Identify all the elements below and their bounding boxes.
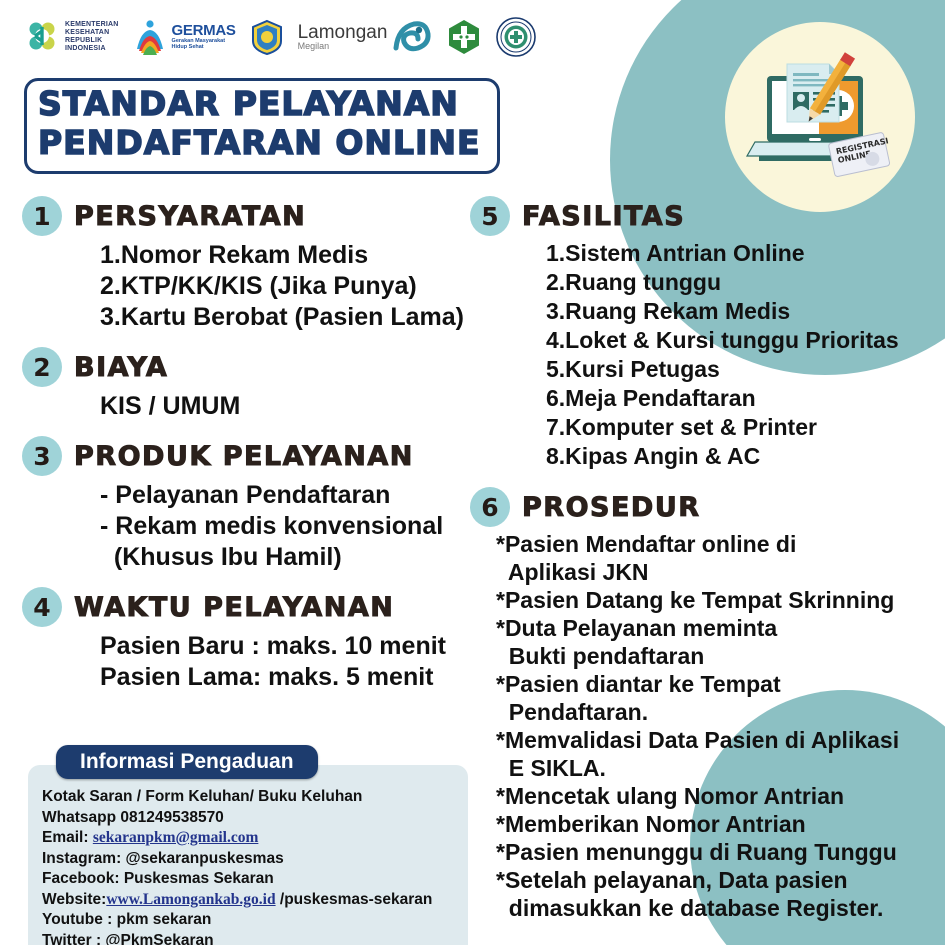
kemenkes-logo: KEMENTERIAN KESEHATAN REPUBLIK INDONESIA: [24, 19, 119, 55]
section-title: PROSEDUR: [522, 492, 701, 523]
info-line-whatsapp: Whatsapp 081249538570: [42, 808, 454, 829]
list-item: Pasien Baru : maks. 10 menit: [100, 631, 472, 662]
left-column: 1 PERSYARATAN 1.Nomor Rekam Medis 2.KTP/…: [22, 196, 472, 695]
list-item: *Mencetak ulang Nomor Antrian: [496, 782, 940, 810]
section-body-fasilitas: 1.Sistem Antrian Online 2.Ruang tunggu 3…: [470, 239, 940, 471]
website-label: Website:: [42, 891, 106, 908]
section-number-badge: 2: [22, 347, 62, 387]
germas-logo: GERMAS Gerakan Masyarakat Hidup Sehat: [133, 19, 236, 55]
germas-figure-icon: [133, 19, 167, 55]
list-item: 1.Sistem Antrian Online: [546, 239, 940, 268]
list-item: E SIKLA.: [496, 754, 940, 782]
kemenkes-logo-text: KEMENTERIAN KESEHATAN REPUBLIK INDONESIA: [65, 21, 119, 53]
info-line-suggestion-box: Kotak Saran / Form Keluhan/ Buku Keluhan: [42, 787, 454, 808]
germas-logo-text: GERMAS Gerakan Masyarakat Hidup Sehat: [172, 24, 236, 50]
section-title: BIAYA: [74, 352, 168, 383]
list-item: *Pasien Mendaftar online di: [496, 530, 940, 558]
info-line-website: Website:www.Lamongankab.go.id /puskesmas…: [42, 890, 454, 911]
list-item: 7.Komputer set & Printer: [546, 413, 940, 442]
list-item: 1.Nomor Rekam Medis: [100, 240, 472, 271]
info-line-instagram: Instagram: @sekaranpuskesmas: [42, 849, 454, 870]
website-path: /puskesmas-sekaran: [276, 891, 433, 908]
list-item: 8.Kipas Angin & AC: [546, 442, 940, 471]
section-title: FASILITAS: [522, 201, 685, 232]
list-item: Bukti pendaftaran: [496, 642, 940, 670]
lamongan-seal-logo: [250, 19, 284, 55]
lamongan-megilan-logo: Lamongan Megilan: [298, 18, 433, 56]
online-registration-illustration: REGISTRASI ONLINE: [739, 42, 899, 192]
section-waktu: 4 WAKTU PELAYANAN Pasien Baru : maks. 10…: [22, 587, 472, 693]
section-number-badge: 3: [22, 436, 62, 476]
list-item: 2.KTP/KK/KIS (Jika Punya): [100, 271, 472, 302]
info-card: Kotak Saran / Form Keluhan/ Buku Keluhan…: [28, 765, 468, 945]
page-title: STANDAR PELAYANAN PENDAFTARAN ONLINE: [38, 84, 498, 162]
section-produk: 3 PRODUK PELAYANAN - Pelayanan Pendaftar…: [22, 436, 472, 573]
list-item: *Duta Pelayanan meminta: [496, 614, 940, 642]
section-header-prosedur: 6 PROSEDUR: [470, 487, 940, 527]
list-item: 4.Loket & Kursi tunggu Prioritas: [546, 326, 940, 355]
list-item: - Rekam medis konvensional: [100, 511, 472, 542]
list-item: Pasien Lama: maks. 5 menit: [100, 662, 472, 693]
list-item: *Setelah pelayanan, Data pasien: [496, 866, 940, 894]
info-badge: Informasi Pengaduan: [56, 745, 318, 779]
section-persyaratan: 1 PERSYARATAN 1.Nomor Rekam Medis 2.KTP/…: [22, 196, 472, 333]
section-fasilitas: 5 FASILITAS 1.Sistem Antrian Online 2.Ru…: [470, 196, 940, 471]
website-link[interactable]: www.Lamongankab.go.id: [106, 891, 275, 908]
email-label: Email:: [42, 829, 93, 846]
list-item: 5.Kursi Petugas: [546, 355, 940, 384]
list-item: *Pasien menunggu di Ruang Tunggu: [496, 838, 940, 866]
section-title: WAKTU PELAYANAN: [74, 592, 394, 623]
puskesmas-sekaran-logo: [496, 17, 536, 57]
section-number-badge: 1: [22, 196, 62, 236]
title-line-1: STANDAR PELAYANAN: [38, 84, 498, 123]
section-header-fasilitas: 5 FASILITAS: [470, 196, 940, 236]
lamongan-crest-icon: [250, 19, 284, 55]
title-line-2: PENDAFTARAN ONLINE: [38, 123, 498, 162]
green-cross-logo: [446, 19, 482, 55]
puskesmas-seal-icon: [496, 17, 536, 57]
section-body-waktu: Pasien Baru : maks. 10 menit Pasien Lama…: [22, 631, 472, 693]
kemenkes-emblem-icon: [24, 19, 60, 55]
email-link[interactable]: sekaranpkm@gmail.com: [93, 829, 259, 846]
section-body-produk: - Pelayanan Pendaftaran - Rekam medis ko…: [22, 480, 472, 573]
section-number-badge: 4: [22, 587, 62, 627]
info-line-facebook: Facebook: Puskesmas Sekaran: [42, 869, 454, 890]
section-prosedur: 6 PROSEDUR *Pasien Mendaftar online di A…: [470, 487, 940, 922]
complaint-info-block: Informasi Pengaduan Kotak Saran / Form K…: [28, 745, 468, 945]
list-item: Aplikasi JKN: [496, 558, 940, 586]
info-line-twitter: Twitter : @PkmSekaran: [42, 931, 454, 945]
section-number-badge: 5: [470, 196, 510, 236]
green-cross-icon: [446, 19, 482, 55]
section-body-persyaratan: 1.Nomor Rekam Medis 2.KTP/KK/KIS (Jika P…: [22, 240, 472, 333]
list-item: Pendaftaran.: [496, 698, 940, 726]
lamongan-wordmark: Lamongan Megilan: [298, 24, 388, 51]
list-item: KIS / UMUM: [100, 391, 472, 422]
list-item: dimasukkan ke database Register.: [496, 894, 940, 922]
list-item: - Pelayanan Pendaftaran: [100, 480, 472, 511]
list-item: *Pasien diantar ke Tempat: [496, 670, 940, 698]
section-number-badge: 6: [470, 487, 510, 527]
info-line-youtube: Youtube : pkm sekaran: [42, 910, 454, 931]
list-item: 3.Kartu Berobat (Pasien Lama): [100, 302, 472, 333]
list-item: *Memberikan Nomor Antrian: [496, 810, 940, 838]
list-item: 3.Ruang Rekam Medis: [546, 297, 940, 326]
section-title: PRODUK PELAYANAN: [74, 441, 414, 472]
section-header-persyaratan: 1 PERSYARATAN: [22, 196, 472, 236]
info-line-email: Email: sekaranpkm@gmail.com: [42, 828, 454, 849]
section-title: PERSYARATAN: [74, 201, 306, 232]
list-item: *Pasien Datang ke Tempat Skrinning: [496, 586, 940, 614]
logo-strip: KEMENTERIAN KESEHATAN REPUBLIK INDONESIA…: [24, 6, 536, 68]
right-column: 5 FASILITAS 1.Sistem Antrian Online 2.Ru…: [470, 196, 940, 924]
lamongan-wave-icon: [392, 18, 432, 56]
section-header-produk: 3 PRODUK PELAYANAN: [22, 436, 472, 476]
section-header-biaya: 2 BIAYA: [22, 347, 472, 387]
list-item: 6.Meja Pendaftaran: [546, 384, 940, 413]
section-biaya: 2 BIAYA KIS / UMUM: [22, 347, 472, 422]
list-item: *Memvalidasi Data Pasien di Aplikasi: [496, 726, 940, 754]
section-header-waktu: 4 WAKTU PELAYANAN: [22, 587, 472, 627]
infographic-poster: KEMENTERIAN KESEHATAN REPUBLIK INDONESIA…: [0, 0, 945, 945]
section-body-prosedur: *Pasien Mendaftar online di Aplikasi JKN…: [470, 530, 940, 922]
list-item: (Khusus Ibu Hamil): [100, 542, 472, 573]
list-item: 2.Ruang tunggu: [546, 268, 940, 297]
section-body-biaya: KIS / UMUM: [22, 391, 472, 422]
